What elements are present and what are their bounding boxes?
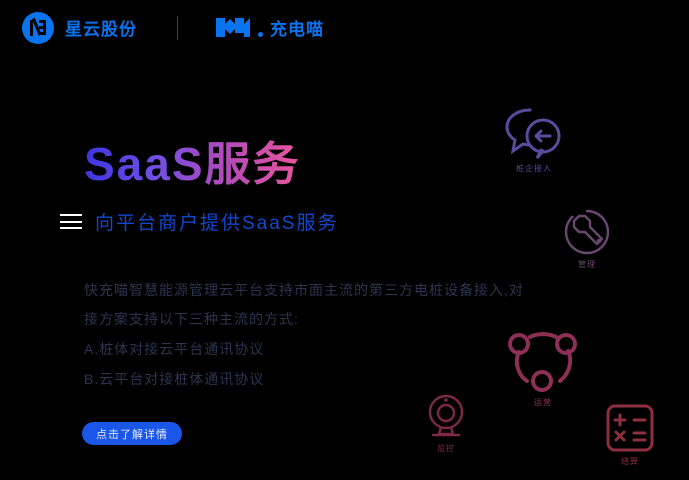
brand-primary-label: 星云股份 <box>65 15 137 40</box>
feature-icon-calculator-label: 结算 <box>621 456 639 467</box>
learn-more-button[interactable]: 点击了解详情 <box>82 422 182 445</box>
feature-icon-network-label: 运营 <box>534 397 552 408</box>
feature-icon-chat-label: 桩企接入 <box>516 163 552 174</box>
feature-icon-tool[interactable]: 管理 <box>563 208 611 270</box>
page-title: SaaS服务 <box>84 128 301 194</box>
page-subtitle: 向平台商户提供SaaS服务 <box>95 208 338 235</box>
monitor-camera-icon <box>424 392 468 440</box>
feature-icon-monitor[interactable]: 监控 <box>424 392 468 454</box>
subtitle-row: 向平台商户提供SaaS服务 <box>60 208 338 235</box>
cat-logo-dot <box>258 32 263 37</box>
hamburger-icon[interactable] <box>60 214 82 229</box>
brand-primary[interactable]: 星云股份 <box>22 12 137 44</box>
feature-icon-chat[interactable]: 桩企接入 <box>500 104 568 174</box>
wrench-icon <box>563 208 611 256</box>
feature-icon-tool-label: 管理 <box>578 259 596 270</box>
calculator-icon <box>605 403 655 453</box>
feature-icon-monitor-label: 监控 <box>437 443 455 454</box>
header-divider <box>177 16 178 40</box>
brand-secondary-label: 充电喵 <box>270 15 324 40</box>
description-line-1: 快充喵智慧能源管理云平台支持市面主流的第三方电桩设备接入,对 <box>84 276 584 305</box>
network-nodes-icon <box>505 328 581 394</box>
feature-icon-network[interactable]: 运营 <box>505 328 581 408</box>
chongdianmiao-cat-logo <box>214 15 254 41</box>
xingyun-circle-logo <box>22 12 54 44</box>
feature-icon-calculator[interactable]: 结算 <box>605 403 655 467</box>
page-header: 星云股份 充电喵 <box>0 0 689 55</box>
brand-secondary[interactable]: 充电喵 <box>214 15 324 41</box>
speech-bubbles-arrow-icon <box>500 104 568 160</box>
